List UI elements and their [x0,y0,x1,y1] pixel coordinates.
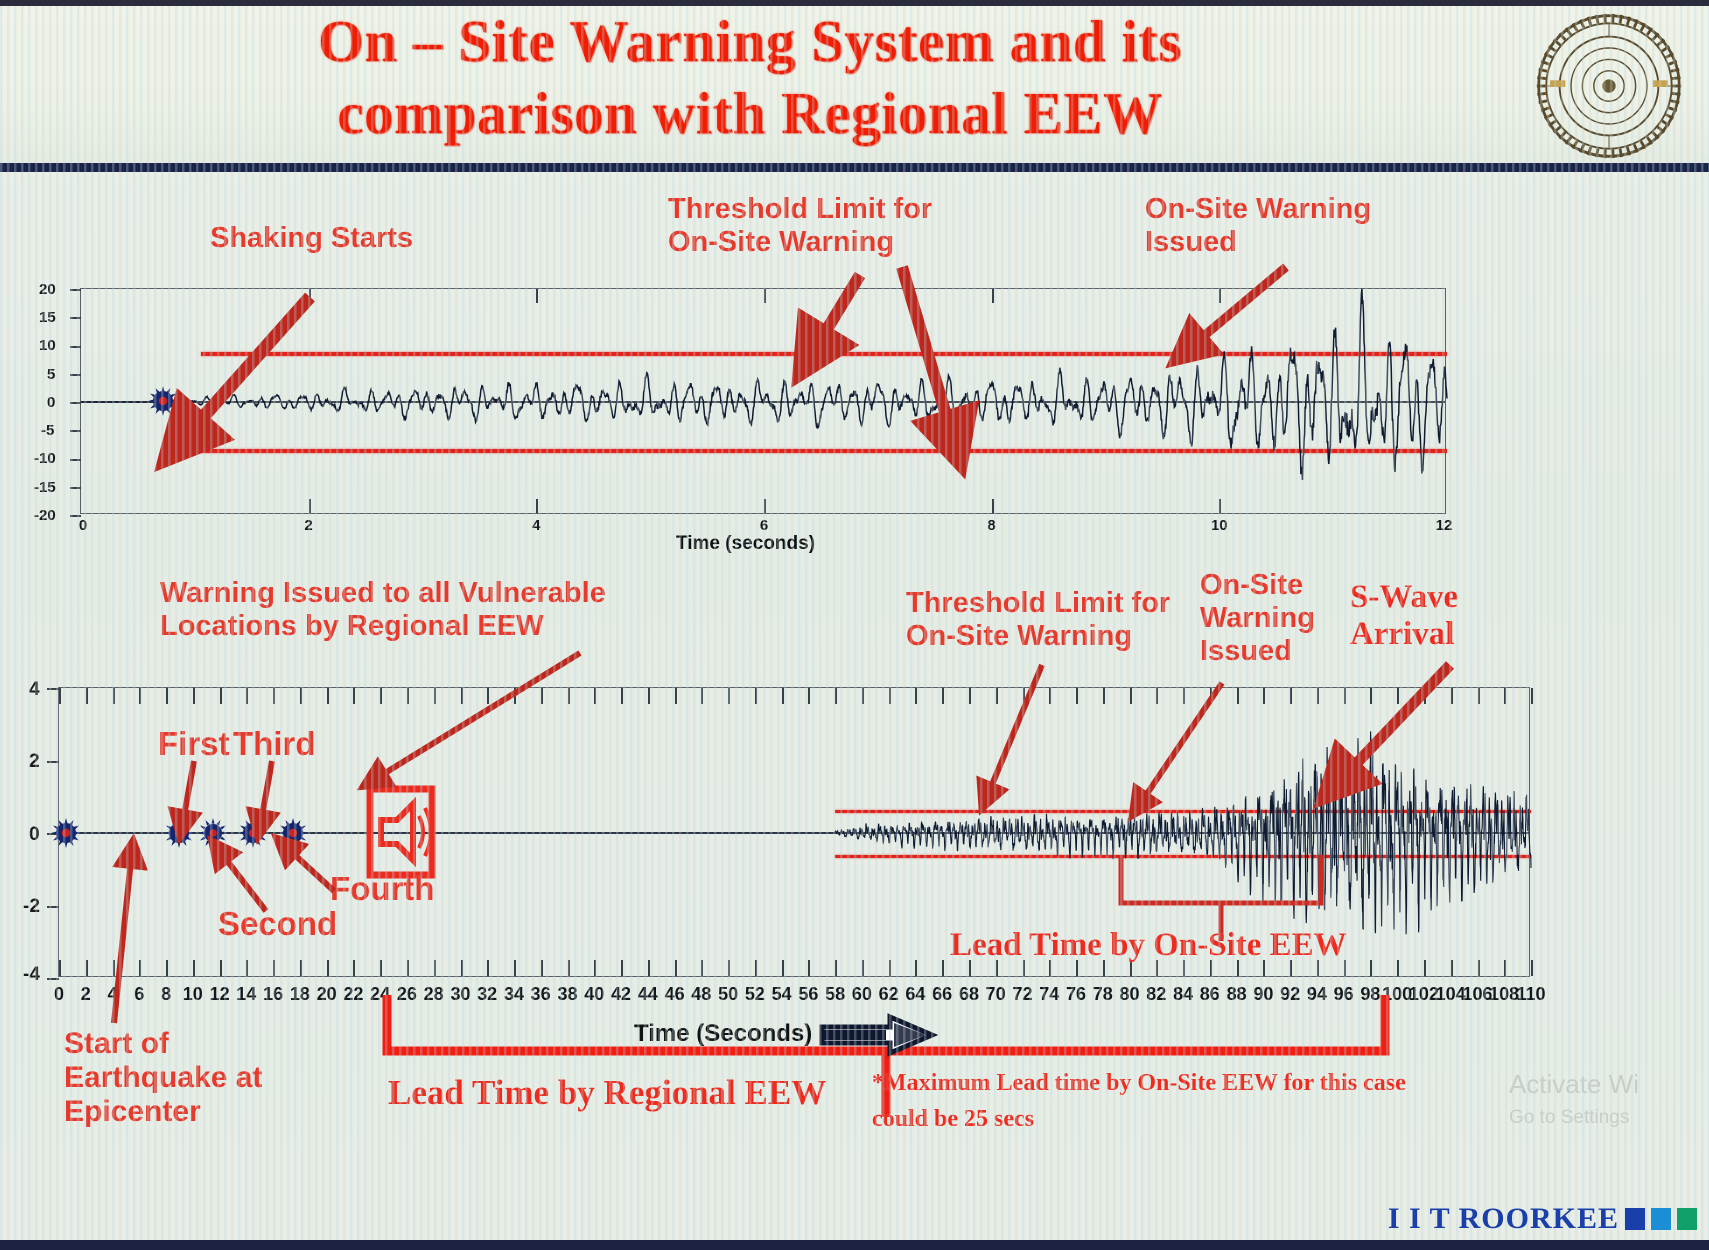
bottom-xtick-label-10: 10 [183,984,203,1005]
x-tick-10: 10 [1211,517,1228,534]
y-tick-0b: 0 [29,824,40,846]
top-edge-bar [0,0,1709,6]
bottom-xtick-label-8: 8 [161,984,171,1005]
brand-text: I I T ROORKEE [1388,1202,1619,1236]
station-marker-epicenter [51,818,81,848]
y-tick-m10: -10 [34,450,56,467]
bottom-xtick-label-20: 20 [317,984,337,1005]
title-line-1: On – Site Warning System and its [150,6,1350,78]
y-tick-20: 20 [39,281,56,298]
annotation-start-of-earthquake: Start of Earthquake at Epicenter [64,1027,262,1129]
direction-arrow-icon [820,1013,940,1057]
arrow-fourth-station [266,839,356,901]
arrow-warning-issued-regional-eew [330,643,610,803]
y-tick-2: 2 [29,751,40,773]
bottom-xtick-label-14: 14 [236,984,256,1005]
annotation-lead-time-on-site-eew: Lead Time by On-Site EEW [950,927,1347,964]
slide-canvas: On – Site Warning System and its compari… [0,0,1709,1250]
annotation-warning-issued-regional-eew: Warning Issued to all Vulnerable Locatio… [160,577,606,643]
arrow-threshold-limit-lower-top [880,259,1040,479]
x-tick-8: 8 [987,517,995,534]
x-tick-0: 0 [79,517,87,534]
brand-square-1 [1625,1208,1645,1230]
x-tick-2: 2 [304,517,312,534]
bottom-xtick-label-106: 106 [1462,984,1492,1005]
x-tick-4: 4 [532,517,540,534]
annotation-max-lead-time-note: *Maximum Lead time by On-Site EEW for th… [872,1065,1406,1137]
arrow-on-site-warning-issued-top [1160,255,1310,375]
bottom-xtick-bottom-110 [1531,960,1533,976]
bottom-xtick-label-18: 18 [290,984,310,1005]
annotation-threshold-limit-bottom: Threshold Limit for On-Site Warning [906,587,1170,653]
annotation-lead-time-regional-eew: Lead Time by Regional EEW [388,1073,826,1113]
y-tick-m20: -20 [34,507,56,524]
y-tick-0: 0 [47,394,55,411]
bottom-xtick-label-12: 12 [210,984,230,1005]
arrow-first-station [160,757,220,847]
x-tick-12: 12 [1436,517,1453,534]
arrow-on-site-warning-issued-bottom [1112,677,1242,827]
bottom-xtick-top-110 [1531,688,1533,704]
arrow-start-of-earthquake [62,845,142,1035]
page-title: On – Site Warning System and its compari… [150,6,1350,150]
bottom-xtick-label-102: 102 [1409,984,1439,1005]
y-tick-10: 10 [39,337,56,354]
brand-square-3 [1677,1208,1697,1230]
y-tick-m15: -15 [34,479,56,496]
bottom-xtick-label-108: 108 [1489,984,1519,1005]
y-tick-15: 15 [39,309,56,326]
top-seismogram-chart: Shaking Starts Threshold Limit for On-Si… [0,175,1709,565]
arrow-threshold-limit-bottom [950,659,1060,819]
bottom-xtick-label-104: 104 [1436,984,1466,1005]
annotation-shaking-starts: Shaking Starts [210,222,413,255]
x-tick-6: 6 [760,517,768,534]
title-line-2: comparison with Regional EEW [150,78,1350,150]
annotation-s-wave-arrival: S-Wave Arrival [1350,579,1458,654]
arrow-s-wave-arrival [1300,657,1470,817]
arrow-shaking-starts [140,275,360,505]
bottom-edge-bar [0,1240,1709,1250]
slide-header: On – Site Warning System and its compari… [0,4,1709,172]
y-tick-m4: -4 [23,964,40,986]
iit-roorkee-seal-icon [1533,10,1685,162]
bottom-xtick-label-110: 110 [1516,984,1545,1005]
y-tick-m2: -2 [23,896,40,918]
arrow-third-station [238,757,298,847]
bottom-seismogram-chart: Warning Issued to all Vulnerable Locatio… [0,565,1709,1250]
annotation-on-site-warning-issued-bottom: On-Site Warning Issued [1200,569,1315,667]
annotation-on-site-warning-issued-top: On-Site Warning Issued [1145,193,1371,259]
bottom-xtick-label-16: 16 [263,984,283,1005]
bottom-xtick-label-22: 22 [343,984,363,1005]
iit-roorkee-brand: I I T ROORKEE [1388,1202,1697,1236]
brand-square-2 [1651,1208,1671,1230]
y-tick-m5: -5 [41,422,54,439]
annotation-threshold-limit-top: Threshold Limit for On-Site Warning [668,193,932,259]
y-tick-4: 4 [29,679,40,701]
y-tick-5: 5 [47,366,55,383]
top-xaxis-title: Time (seconds) [676,533,815,555]
